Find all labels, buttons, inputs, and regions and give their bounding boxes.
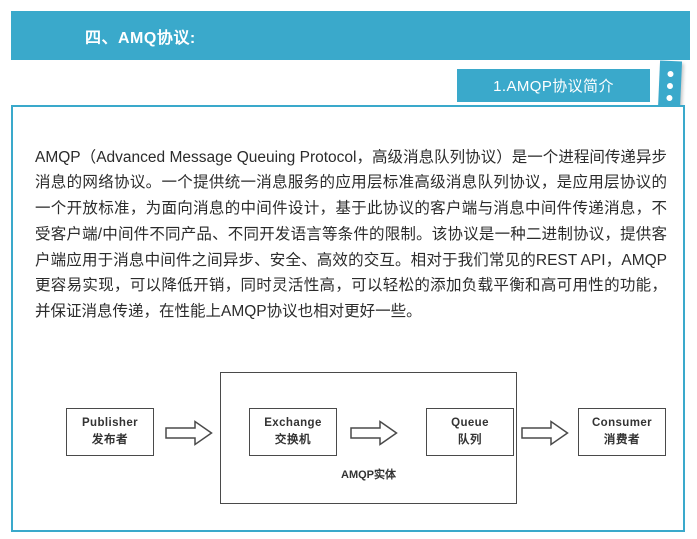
- node-label-en: Exchange: [264, 415, 322, 432]
- arrow-publisher-to-exchange-icon: [165, 420, 213, 446]
- amqp-flow-diagram: AMQP实体 Publisher 发布者 Exchange 交换机 Queue …: [13, 362, 683, 522]
- node-label-en: Queue: [451, 415, 489, 432]
- content-card: AMQP（Advanced Message Queuing Protocol，高…: [11, 105, 685, 532]
- node-label-cn: 消费者: [604, 432, 640, 449]
- ribbon-dot: [667, 82, 673, 88]
- arrow-exchange-to-queue-icon: [350, 420, 398, 446]
- section-tab-amqp-intro[interactable]: 1.AMQP协议简介: [457, 69, 650, 102]
- node-label-cn: 发布者: [92, 432, 128, 449]
- diagram-node-consumer: Consumer 消费者: [578, 408, 666, 456]
- node-label-cn: 交换机: [275, 432, 311, 449]
- three-dots-ribbon-icon: [658, 61, 682, 111]
- ribbon-dot: [667, 70, 673, 76]
- diagram-node-exchange: Exchange 交换机: [249, 408, 337, 456]
- diagram-node-publisher: Publisher 发布者: [66, 408, 154, 456]
- page-title: 四、AMQ协议:: [85, 24, 196, 48]
- node-label-en: Consumer: [592, 415, 652, 432]
- ribbon-dot: [666, 94, 672, 100]
- node-label-cn: 队列: [458, 432, 482, 449]
- node-label-en: Publisher: [82, 415, 138, 432]
- amqp-description-paragraph: AMQP（Advanced Message Queuing Protocol，高…: [35, 145, 667, 326]
- amqp-entity-label: AMQP实体: [220, 466, 517, 482]
- arrow-queue-to-consumer-icon: [521, 420, 569, 446]
- header-bar: 四、AMQ协议:: [11, 11, 690, 60]
- diagram-node-queue: Queue 队列: [426, 408, 514, 456]
